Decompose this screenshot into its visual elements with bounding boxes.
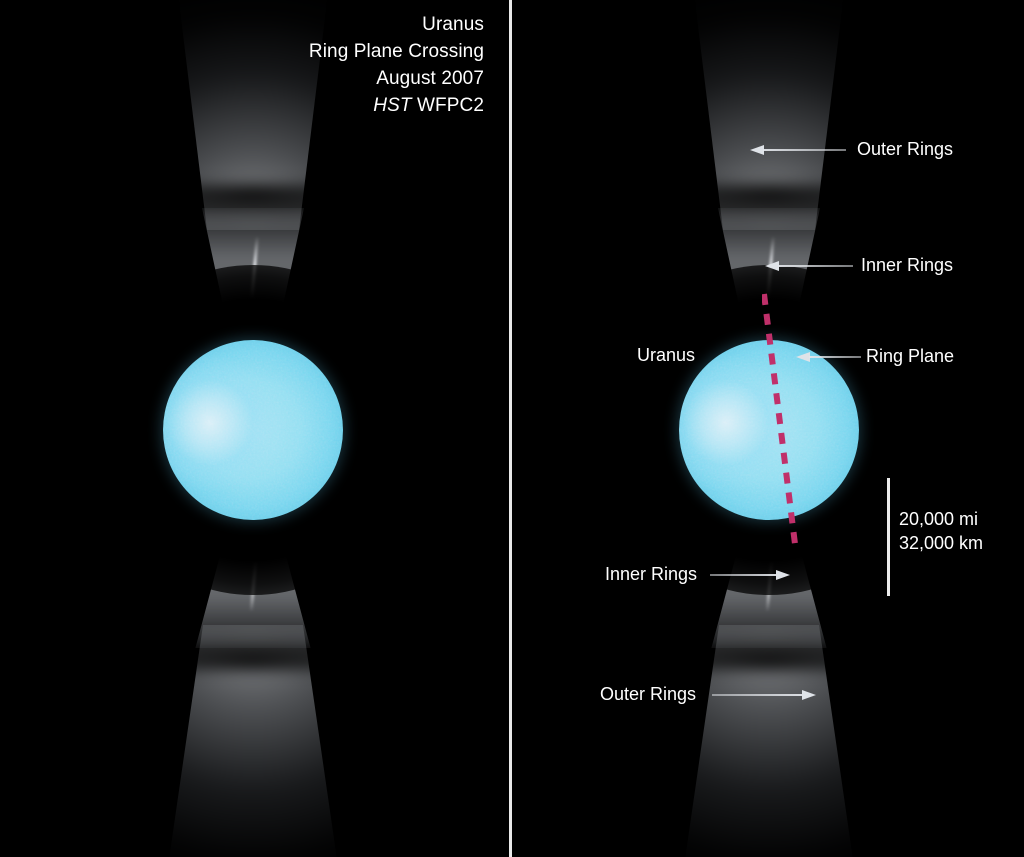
instrument-name: WFPC2 xyxy=(412,95,484,116)
annotation-ring-plane: Ring Plane xyxy=(866,346,954,367)
uranus-globe xyxy=(163,340,343,520)
outer-rings-bottom-arrow xyxy=(712,690,816,700)
annotation-uranus: Uranus xyxy=(637,345,695,366)
title-line-instrument: HST WFPC2 xyxy=(309,93,484,120)
panel-divider xyxy=(506,0,514,857)
telescope-name: HST xyxy=(373,95,411,116)
title-line-date: August 2007 xyxy=(309,66,484,93)
panel-unannotated: Uranus Ring Plane Crossing August 2007 H… xyxy=(0,0,506,857)
figure-root: Uranus Ring Plane Crossing August 2007 H… xyxy=(0,0,1024,857)
outer-rings-top-arrow xyxy=(750,145,846,155)
inner-rings-bottom-arrow xyxy=(710,570,790,580)
annotation-outer-rings-bottom: Outer Rings xyxy=(600,684,696,705)
uranus-scene-left xyxy=(0,0,506,857)
title-line-object: Uranus xyxy=(309,12,484,39)
figure-title-block: Uranus Ring Plane Crossing August 2007 H… xyxy=(309,12,484,120)
scale-bar-line xyxy=(887,478,890,596)
annotation-inner-rings-bottom: Inner Rings xyxy=(605,564,697,585)
inner-rings-top-arrow xyxy=(765,261,853,271)
scale-bar-kilometers: 32,000 km xyxy=(899,532,983,556)
annotation-outer-rings-top: Outer Rings xyxy=(857,139,953,160)
planet-limb-shading xyxy=(163,340,343,520)
annotation-inner-rings-top: Inner Rings xyxy=(861,255,953,276)
scale-bar-miles: 20,000 mi xyxy=(899,508,983,532)
scale-bar-labels: 20,000 mi 32,000 km xyxy=(899,508,983,556)
ring-plane-dashed-line xyxy=(762,292,812,548)
title-line-event: Ring Plane Crossing xyxy=(309,39,484,66)
